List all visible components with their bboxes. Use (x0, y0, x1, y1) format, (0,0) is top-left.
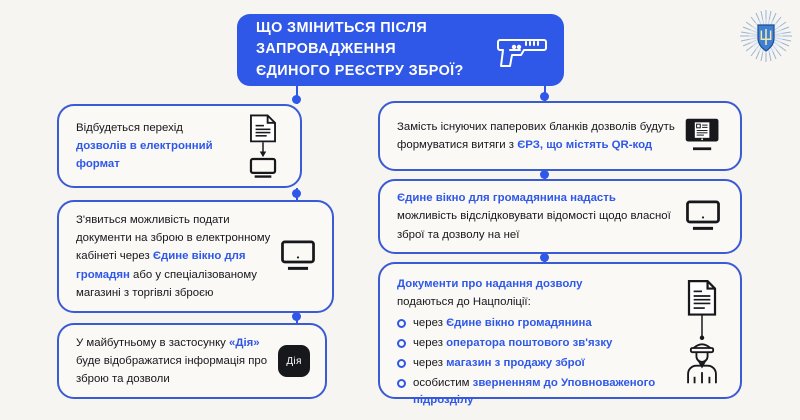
document-to-monitor-icon (236, 112, 290, 180)
text-segment: буде відображатися інформація про зброю … (76, 355, 267, 385)
list-item: особистим зверненням до Уповноваженого п… (397, 375, 674, 408)
bullet-circle-icon (397, 339, 406, 348)
page-title: ЩО ЗМІНИТЬСЯ ПІСЛЯ ЗАПРОВАДЖЕННЯ ЄДИНОГО… (256, 18, 492, 83)
list-item: через Єдине вікно громадянина (397, 315, 674, 332)
text-segment: У майбутньому в застосунку (76, 337, 229, 349)
text-segment-highlight: магазин з продажу зброї (446, 357, 585, 369)
infographic-root: ЩО ЗМІНИТЬСЯ ПІСЛЯ ЗАПРОВАДЖЕННЯ ЄДИНОГО… (0, 0, 800, 420)
connector-dot-right-3 (540, 253, 549, 262)
card-text: Відбудеться перехід дозволів в електронн… (76, 119, 236, 173)
text-segment: можливість відслідковувати відомості щод… (397, 210, 671, 240)
text-segment-highlight: «Дія» (229, 337, 260, 349)
card-submit-documents: З'явиться можливість подати документи на… (57, 200, 334, 313)
monitor-icon (676, 198, 730, 235)
bullet-circle-icon (397, 319, 406, 328)
text-segment-highlight: оператора поштового зв'язку (446, 337, 612, 349)
card-subheading: подаються до Нацполіції: (397, 293, 674, 311)
card-dia-app: У майбутньому в застосунку «Дія» буде ві… (57, 323, 327, 399)
list-item-label: через Єдине вікно громадянина (413, 315, 674, 332)
card-text: Замість існуючих паперових бланків дозво… (397, 118, 676, 154)
document-and-officer-icons (674, 275, 730, 393)
text-segment-highlight: Єдине вікно громадянина (446, 317, 592, 329)
text-segment: через (413, 357, 446, 369)
card-submission-channels: Документи про надання дозволу подаються … (378, 262, 742, 399)
card-electronic-permits: Відбудеться перехід дозволів в електронн… (57, 104, 302, 188)
list-item: через магазин з продажу зброї (397, 355, 674, 372)
police-officer-icon (688, 336, 716, 384)
national-police-emblem-icon (738, 8, 794, 64)
monitor-with-qr-document-icon (676, 116, 730, 156)
card-qr-extracts: Замість існуючих паперових бланків дозво… (378, 101, 742, 171)
list-item-label: особистим зверненням до Уповноваженого п… (413, 375, 674, 408)
connector-dot-left-1 (292, 95, 301, 104)
connector-dot-left-3 (292, 312, 301, 321)
bullet-circle-icon (397, 379, 406, 388)
dia-app-icon-label: Дія (278, 345, 310, 377)
card-text: У майбутньому в застосунку «Дія» буде ві… (76, 334, 273, 388)
dia-app-icon: Дія (273, 345, 315, 377)
list-item: через оператора поштового зв'язку (397, 335, 674, 352)
submission-channels-list: через Єдине вікно громадянина через опер… (397, 315, 674, 408)
list-item-label: через магазин з продажу зброї (413, 355, 674, 372)
card-single-window-tracking: Єдине вікно для громадянина надасть можл… (378, 179, 742, 254)
card-text: Документи про надання дозволу подаються … (397, 275, 674, 412)
connector-dot-left-2 (292, 189, 301, 198)
connector-dot-right-1 (540, 92, 549, 101)
text-segment: Відбудеться перехід (76, 122, 183, 134)
text-segment-highlight: Єдине вікно для громадянина надасть (397, 192, 616, 204)
connector-dot-right-2 (540, 170, 549, 179)
bullet-circle-icon (397, 359, 406, 368)
text-segment: особистим (413, 377, 473, 389)
monitor-icon (274, 238, 322, 275)
infographic-title-banner: ЩО ЗМІНИТЬСЯ ПІСЛЯ ЗАПРОВАДЖЕННЯ ЄДИНОГО… (237, 14, 564, 86)
text-segment-highlight: ЄРЗ, що містять QR-код (517, 139, 652, 151)
card-text: З'явиться можливість подати документи на… (76, 211, 274, 301)
card-text: Єдине вікно для громадянина надасть можл… (397, 189, 676, 243)
pistol-icon (492, 30, 550, 70)
text-segment: через (413, 317, 446, 329)
text-segment-highlight: дозволів в електронний формат (76, 140, 213, 170)
document-icon (689, 281, 715, 314)
text-segment: через (413, 337, 446, 349)
list-item-label: через оператора поштового зв'язку (413, 335, 674, 352)
card-heading: Документи про надання дозволу (397, 275, 674, 293)
